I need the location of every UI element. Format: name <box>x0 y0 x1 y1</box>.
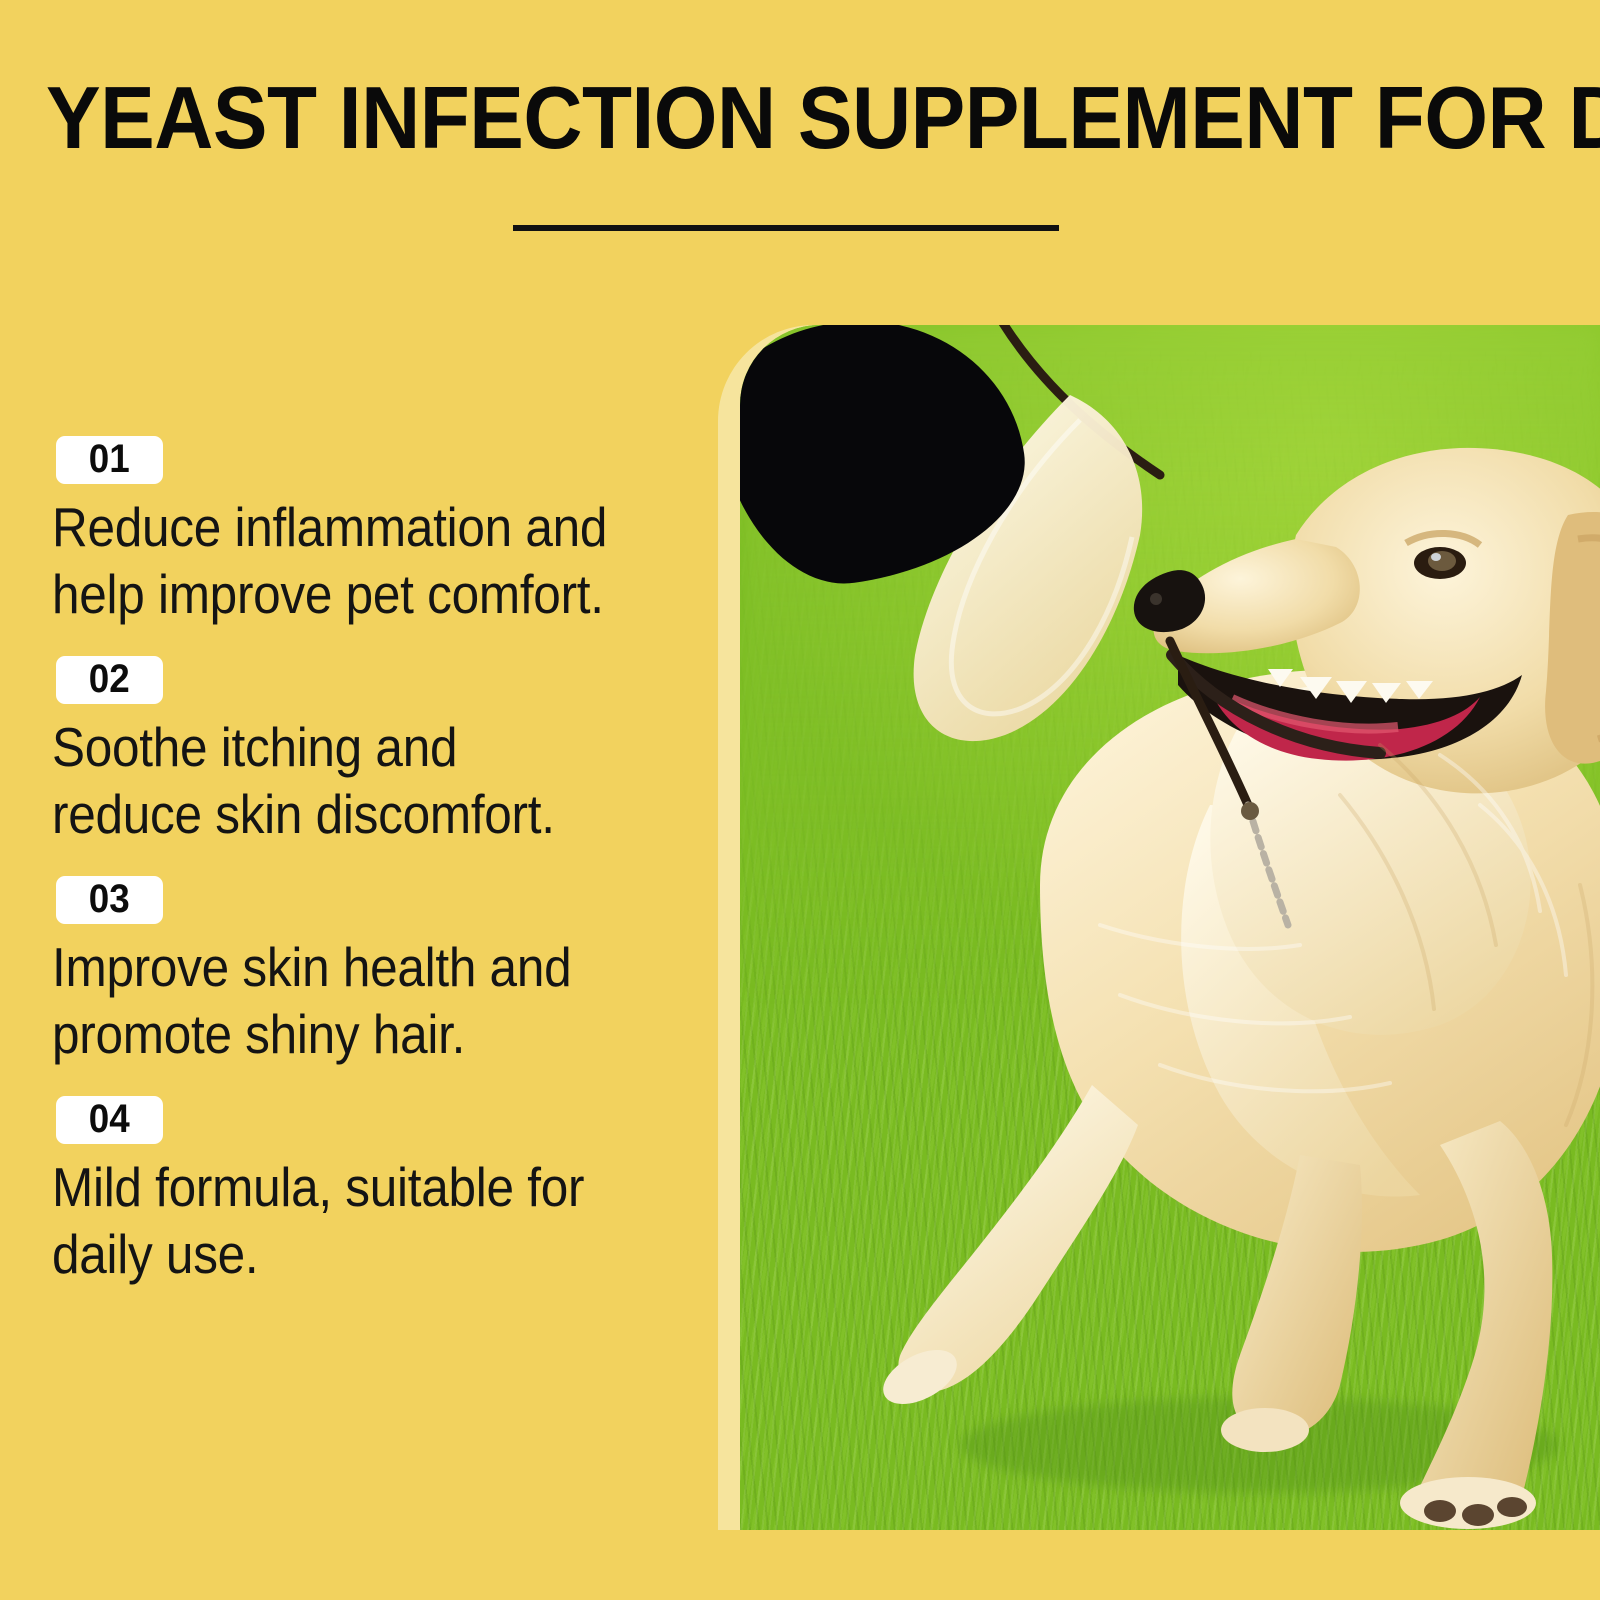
photo-frame <box>718 325 1600 1530</box>
list-item: 04 Mild formula, suitable for daily use. <box>0 1096 700 1288</box>
benefit-number-badge: 02 <box>56 656 163 704</box>
benefit-number-badge: 04 <box>56 1096 163 1144</box>
benefit-description: Improve skin health and promote shiny ha… <box>52 934 610 1068</box>
title-divider <box>513 225 1059 231</box>
page-title: YEAST INFECTION SUPPLEMENT FOR DOGS <box>46 72 1460 164</box>
benefit-number-badge: 03 <box>56 876 163 924</box>
benefit-number: 04 <box>89 1099 130 1139</box>
benefit-number-badge: 01 <box>56 436 163 484</box>
benefits-list: 01 Reduce inflammation and help improve … <box>0 436 700 1316</box>
benefit-description: Mild formula, suitable for daily use. <box>52 1154 610 1288</box>
list-item: 01 Reduce inflammation and help improve … <box>0 436 700 628</box>
benefit-number: 03 <box>89 879 130 919</box>
list-item: 03 Improve skin health and promote shiny… <box>0 876 700 1068</box>
benefit-number: 02 <box>89 659 130 699</box>
dog-photo <box>740 325 1600 1530</box>
benefit-description: Soothe itching and reduce skin discomfor… <box>52 714 610 848</box>
list-item: 02 Soothe itching and reduce skin discom… <box>0 656 700 848</box>
benefit-description: Reduce inflammation and help improve pet… <box>52 494 610 628</box>
benefit-number: 01 <box>89 439 130 479</box>
